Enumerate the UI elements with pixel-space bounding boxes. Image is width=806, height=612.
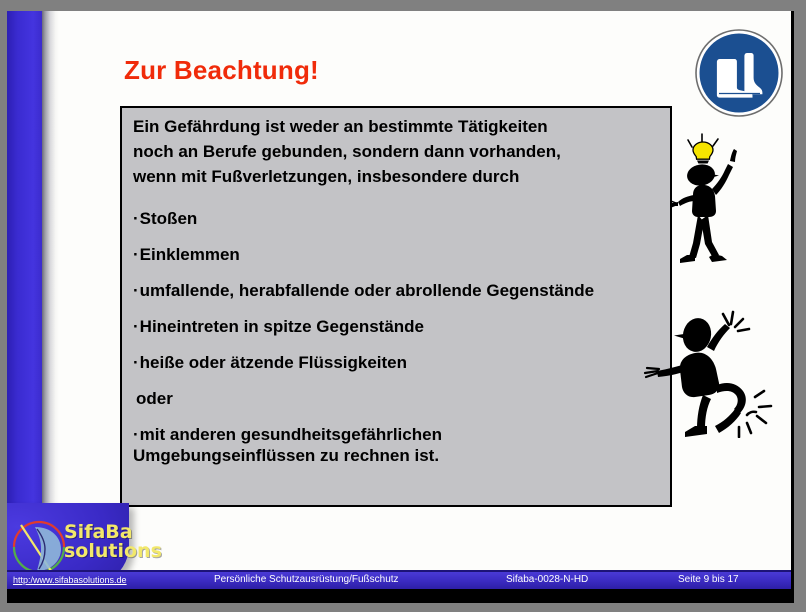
safety-boot-mandatory-sign-icon [695, 29, 783, 117]
hazard-bullet-item: Stoßen [133, 208, 672, 229]
footer-url-link[interactable]: http:/www.sifabasolutions.de [13, 575, 127, 585]
hazard-bullet-item: umfallende, herabfallende oder abrollend… [133, 280, 672, 301]
footer-black-strip [7, 589, 791, 600]
desktop-background: Zur Beachtung! Ein Gefährdung ist weder … [0, 0, 806, 612]
page-title: Zur Beachtung! [124, 55, 319, 86]
intro-paragraph: Ein Gefährdung ist weder an bestimmte Tä… [133, 114, 672, 189]
hazard-bullet-item: heiße oder ätzende Flüssigkeiten [133, 352, 672, 373]
hazard-bullet-item: mit anderen gesundheitsgefährlichen Umge… [133, 424, 672, 466]
logo-text-line2: solutions [64, 542, 162, 561]
footer-subject: Persönliche Schutzausrüstung/Fußschutz [214, 574, 399, 585]
hazard-bullet-item: Einklemmen [133, 244, 672, 265]
content-box: Ein Gefährdung ist weder an bestimmte Tä… [120, 106, 672, 507]
slide-footer: http:/www.sifabasolutions.de Persönliche… [7, 572, 791, 589]
footer-page-number: Seite 9 bis 17 [678, 574, 739, 585]
stick-figure-idea-lightbulb-icon [670, 133, 756, 263]
hazard-bullet-item: oder [136, 388, 672, 409]
presentation-slide: Zur Beachtung! Ein Gefährdung ist weder … [7, 11, 794, 603]
hazard-bullet-list: StoßenEinklemmenumfallende, herabfallend… [133, 208, 672, 481]
hazard-bullet-item: Hineintreten in spitze Gegenstände [133, 316, 672, 337]
stick-figure-slipping-icon [643, 303, 783, 438]
footer-document-id: Sifaba-0028-N-HD [506, 574, 588, 585]
logo-text: SifaBa solutions [64, 523, 162, 561]
